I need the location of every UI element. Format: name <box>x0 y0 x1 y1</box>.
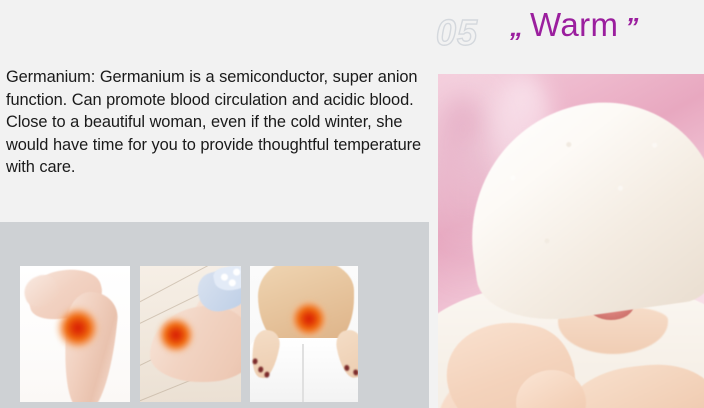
heat-spot-icon <box>155 314 197 356</box>
right-column: 05 „ Warm ” <box>432 0 704 408</box>
photo-strip <box>0 222 429 408</box>
section-title-group: „ Warm ” <box>510 8 638 41</box>
heat-spot-icon <box>288 298 330 340</box>
left-column: Germanium: Germanium is a semiconductor,… <box>0 0 432 408</box>
fingernail-shape <box>258 366 264 373</box>
page-title: Warm <box>530 8 618 41</box>
fingernail-shape <box>344 365 350 372</box>
quote-open-icon: „ <box>510 14 523 40</box>
baby-hero-photo[interactable] <box>438 74 704 408</box>
heat-spot-icon <box>54 304 102 352</box>
section-heading: 05 „ Warm ” <box>432 0 704 70</box>
elbow-photo-inner <box>20 266 130 402</box>
fingernail-shape <box>353 369 358 376</box>
waist-heat-photo[interactable] <box>250 266 358 402</box>
knee-heat-photo[interactable] <box>140 266 241 402</box>
fingernail-shape <box>252 358 258 365</box>
waist-photo-inner <box>250 266 358 402</box>
description-panel: Germanium: Germanium is a semiconductor,… <box>0 58 432 218</box>
elbow-heat-photo[interactable] <box>20 266 130 402</box>
description-text: Germanium: Germanium is a semiconductor,… <box>6 66 430 179</box>
quote-close-icon: ” <box>625 14 638 40</box>
waist-trousers-seam <box>302 344 304 402</box>
section-number: 05 <box>436 12 478 54</box>
product-detail-page: Germanium: Germanium is a semiconductor,… <box>0 0 704 408</box>
knee-photo-inner <box>140 266 241 402</box>
